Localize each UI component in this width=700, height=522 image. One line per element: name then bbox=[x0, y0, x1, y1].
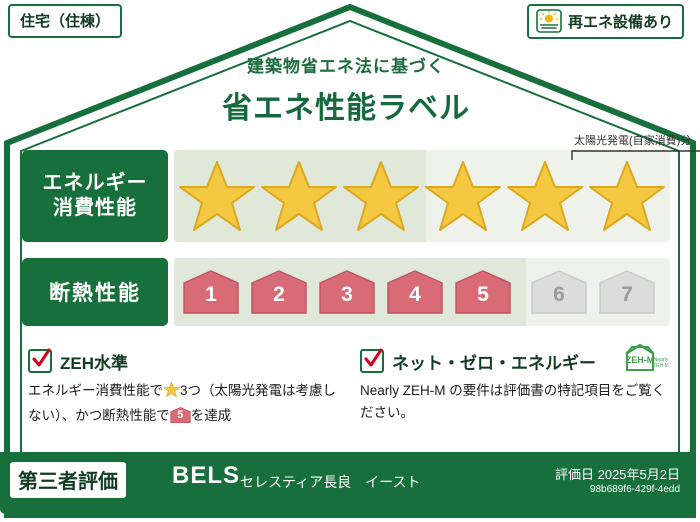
energy-star-4 bbox=[424, 158, 502, 234]
insulation-grade-7-value: 7 bbox=[598, 269, 656, 315]
zeh-m-logo-icon: ZEH-M Nearly ZEH-M bbox=[612, 344, 668, 378]
inline-grade-badge: 5 bbox=[170, 406, 191, 424]
insulation-grade-1: 1 bbox=[182, 269, 240, 315]
energy-performance-label: エネルギー 消費性能 bbox=[22, 150, 168, 242]
insulation-grade-2-value: 2 bbox=[250, 269, 308, 315]
title-block: 建築物省エネ法に基づく 省エネ性能ラベル bbox=[0, 52, 692, 127]
net-zero-energy-body: Nearly ZEH-M の要件は評価書の特記項目をご覧ください。 bbox=[360, 380, 668, 424]
zeh-standard-header: ZEH水準 bbox=[28, 348, 336, 374]
net-zero-energy-header: ネット・ゼロ・エネルギー ZEH-M Nearly ZEH-M bbox=[360, 348, 668, 374]
insulation-grade-7: 7 bbox=[598, 269, 656, 315]
housing-type-badge: 住宅（住棟） bbox=[8, 4, 122, 38]
energy-star-1 bbox=[178, 158, 256, 234]
svg-text:ZEH-M: ZEH-M bbox=[626, 355, 655, 365]
energy-label-line1: エネルギー bbox=[43, 171, 148, 196]
insulation-grade-1-value: 1 bbox=[182, 269, 240, 315]
energy-star-5 bbox=[506, 158, 584, 234]
solar-self-consumption-caption: 太陽光発電(自家消費)分 bbox=[574, 132, 691, 148]
bels-energy-performance-label: 住宅（住棟） 再エネ設備あり 建築物省エネ法に基 bbox=[0, 0, 700, 522]
net-zero-energy-title: ネット・ゼロ・エネルギー bbox=[392, 349, 596, 374]
insulation-performance-row: 断熱性能 1 2 3 4 5 bbox=[22, 258, 670, 326]
checks-section: ZEH水準 エネルギー消費性能で3つ（太陽光発電は考慮しない）、かつ断熱性能で5… bbox=[28, 348, 668, 434]
title-subtitle: 建築物省エネ法に基づく bbox=[0, 52, 692, 77]
zeh-standard-body: エネルギー消費性能で3つ（太陽光発電は考慮しない）、かつ断熱性能で5を達成 bbox=[28, 380, 336, 427]
bels-logo-text: BELS bbox=[172, 462, 240, 490]
zeh-standard-title: ZEH水準 bbox=[60, 349, 128, 374]
energy-star-3 bbox=[342, 158, 420, 234]
insulation-grade-5: 5 bbox=[454, 269, 512, 315]
building-name: セレスティア長良 イースト bbox=[240, 472, 420, 492]
zeh-body-part2: 3つ（太陽光発電 bbox=[180, 383, 282, 398]
evaluation-date: 評価日 2025年5月2日 bbox=[555, 464, 680, 483]
page-title: 省エネ性能ラベル bbox=[0, 83, 692, 127]
evaluation-id: 98b689f6-429f-4edd bbox=[590, 484, 680, 495]
energy-star-2 bbox=[260, 158, 338, 234]
energy-stars-area: 太陽光発電(自家消費)分 bbox=[174, 150, 670, 242]
insulation-grade-5-value: 5 bbox=[454, 269, 512, 315]
renewable-equipment-badge: 再エネ設備あり bbox=[527, 4, 684, 39]
inline-star-icon bbox=[163, 381, 180, 405]
insulation-grade-4: 4 bbox=[386, 269, 444, 315]
evaluation-date-label: 評価日 bbox=[555, 467, 594, 482]
insulation-performance-label: 断熱性能 bbox=[22, 258, 168, 326]
header-row: 住宅（住棟） 再エネ設備あり bbox=[0, 0, 692, 46]
svg-text:ZEH-M: ZEH-M bbox=[653, 363, 668, 369]
third-party-evaluation-badge: 第三者評価 bbox=[10, 462, 126, 498]
energy-label-line2: 消費性能 bbox=[53, 196, 137, 221]
checkmark-icon bbox=[360, 349, 384, 373]
insulation-grade-3: 3 bbox=[318, 269, 376, 315]
insulation-grade-3-value: 3 bbox=[318, 269, 376, 315]
footer-bar: 第三者評価 BELS セレスティア長良 イースト 評価日 2025年5月2日 9… bbox=[0, 452, 692, 514]
zeh-standard-block: ZEH水準 エネルギー消費性能で3つ（太陽光発電は考慮しない）、かつ断熱性能で5… bbox=[28, 348, 336, 427]
insulation-grades-area: 1 2 3 4 5 6 7 bbox=[174, 258, 670, 326]
insulation-grade-6: 6 bbox=[530, 269, 588, 315]
insulation-grade-6-value: 6 bbox=[530, 269, 588, 315]
zeh-body-part1: エネルギー消費性能で bbox=[28, 383, 163, 398]
checkmark-icon bbox=[28, 349, 52, 373]
inline-grade-value: 5 bbox=[170, 406, 191, 424]
solar-sun-icon bbox=[536, 9, 562, 33]
zeh-body-part4: を達成 bbox=[191, 408, 232, 423]
net-zero-energy-block: ネット・ゼロ・エネルギー ZEH-M Nearly ZEH-M Nearly Z… bbox=[360, 348, 668, 424]
energy-performance-row: エネルギー 消費性能 太陽光発電(自家消費)分 bbox=[22, 150, 670, 242]
evaluation-date-value: 2025年5月2日 bbox=[598, 467, 680, 482]
energy-star-6 bbox=[588, 158, 666, 234]
insulation-grade-2: 2 bbox=[250, 269, 308, 315]
renewable-badge-label: 再エネ設備あり bbox=[568, 11, 673, 32]
insulation-grade-4-value: 4 bbox=[386, 269, 444, 315]
